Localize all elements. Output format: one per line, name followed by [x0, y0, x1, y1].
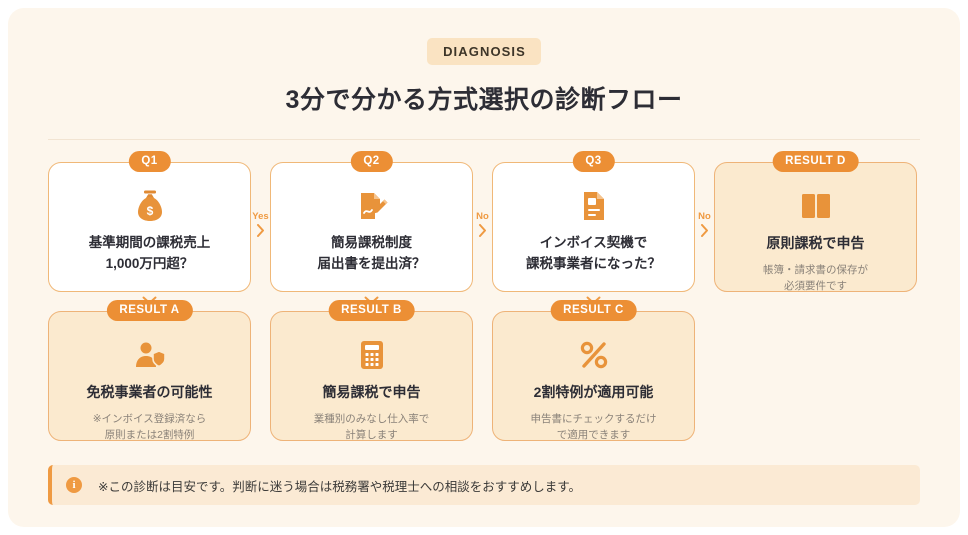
- card-result-c[interactable]: RESULT C 2割特例が適用可能 申告書にチェックするだけ で適用できます: [492, 311, 695, 441]
- connector-q2-q3-label: No: [476, 212, 489, 222]
- card-result-b-sub-line2: 計算します: [283, 427, 460, 444]
- diagnosis-badge: DIAGNOSIS: [427, 38, 541, 65]
- card-result-d-tag: RESULT D: [772, 151, 859, 172]
- flow-row-questions: Q1 $ 基準期間の課税売上 1,000万円超？ Q2: [48, 162, 920, 292]
- card-result-a-tag: RESULT A: [106, 300, 192, 321]
- percent-icon: [505, 338, 682, 372]
- card-result-a-sub-line2: 原則または2割特例: [61, 427, 238, 444]
- card-result-d-sub: 帳簿・請求書の保存が 必須要件です: [727, 262, 904, 296]
- connector-q3-result-d: No: [695, 212, 714, 242]
- card-q2-title: 簡易課税制度 届出書を提出済？: [283, 233, 460, 275]
- diagnosis-flow-page: DIAGNOSIS 3分で分かる方式選択の診断フロー Q1 $ 基準期間の: [8, 8, 960, 527]
- card-q3-title-line1: インボイス契機で: [505, 233, 682, 254]
- card-q2-tag: Q2: [350, 151, 392, 172]
- card-q3[interactable]: Q3 インボイス契機で 課税事業者になった？: [492, 162, 695, 292]
- svg-text:$: $: [146, 204, 153, 218]
- card-q2[interactable]: Q2 簡易課税制度 届出書を提出済？: [270, 162, 473, 292]
- card-result-a-sub-line1: ※インボイス登録済なら: [61, 411, 238, 428]
- card-q1-tag: Q1: [128, 151, 170, 172]
- card-q1[interactable]: Q1 $ 基準期間の課税売上 1,000万円超？: [48, 162, 251, 292]
- chevron-right-icon: [478, 224, 487, 242]
- card-result-d[interactable]: RESULT D 原則課税で申告 帳簿・請求書の保存が 必須要件です: [714, 162, 917, 292]
- money-bag-icon: $: [61, 189, 238, 223]
- card-result-a[interactable]: RESULT A 免税事業者の可能性 ※インボイス登録済なら 原則または2割特例: [48, 311, 251, 441]
- open-book-icon: [727, 189, 904, 223]
- card-q2-title-line2: 届出書を提出済？: [283, 254, 460, 275]
- card-q3-title-line2: 課税事業者になった？: [505, 254, 682, 275]
- card-q1-title: 基準期間の課税売上 1,000万円超？: [61, 233, 238, 275]
- card-result-b-tag: RESULT B: [328, 300, 415, 321]
- card-result-c-tag: RESULT C: [550, 300, 637, 321]
- card-q1-title-line2: 1,000万円超？: [61, 254, 238, 275]
- gap-resb-resc: [473, 311, 492, 441]
- card-result-d-sub-line1: 帳簿・請求書の保存が: [727, 262, 904, 279]
- card-result-b-sub: 業種別のみなし仕入率で 計算します: [283, 411, 460, 445]
- card-result-b[interactable]: RESULT B: [270, 311, 473, 441]
- card-q2-title-line1: 簡易課税制度: [283, 233, 460, 254]
- card-result-c-sub-line1: 申告書にチェックするだけ: [505, 411, 682, 428]
- person-shield-icon: [61, 338, 238, 372]
- card-q1-title-line1: 基準期間の課税売上: [61, 233, 238, 254]
- gap-resa-resb: [251, 311, 270, 441]
- invoice-document-icon: [505, 189, 682, 223]
- page-header: DIAGNOSIS 3分で分かる方式選択の診断フロー: [8, 8, 960, 140]
- chevron-right-icon: [256, 224, 265, 242]
- connector-q3-result-d-label: No: [698, 212, 711, 222]
- card-q3-tag: Q3: [572, 151, 614, 172]
- connector-q2-q3: No: [473, 212, 492, 242]
- page-title: 3分で分かる方式選択の診断フロー: [8, 80, 960, 116]
- flow-diagram: Q1 $ 基準期間の課税売上 1,000万円超？ Q2: [48, 162, 920, 441]
- calculator-icon: [283, 338, 460, 372]
- card-result-c-sub: 申告書にチェックするだけ で適用できます: [505, 411, 682, 445]
- disclaimer-note-text: ※この診断は目安です。判断に迷う場合は税務署や税理士への相談をおすすめします。: [98, 476, 581, 495]
- disclaimer-note: i ※この診断は目安です。判断に迷う場合は税務署や税理士への相談をおすすめします…: [48, 465, 920, 505]
- info-icon: i: [66, 477, 82, 493]
- chevron-right-icon: [700, 224, 709, 242]
- card-result-c-title: 2割特例が適用可能: [505, 382, 682, 404]
- card-q3-title: インボイス契機で 課税事業者になった？: [505, 233, 682, 275]
- card-result-a-sub: ※インボイス登録済なら 原則または2割特例: [61, 411, 238, 445]
- flow-row-results: RESULT A 免税事業者の可能性 ※インボイス登録済なら 原則または2割特例: [48, 311, 920, 441]
- header-divider: [48, 139, 920, 140]
- card-result-b-title: 簡易課税で申告: [283, 382, 460, 404]
- card-result-c-sub-line2: で適用できます: [505, 427, 682, 444]
- document-pen-icon: [283, 189, 460, 223]
- connector-q1-q2-label: Yes: [252, 212, 268, 222]
- card-result-b-sub-line1: 業種別のみなし仕入率で: [283, 411, 460, 428]
- card-result-a-title: 免税事業者の可能性: [61, 382, 238, 404]
- card-result-d-title: 原則課税で申告: [727, 233, 904, 255]
- connector-q1-q2: Yes: [251, 212, 270, 242]
